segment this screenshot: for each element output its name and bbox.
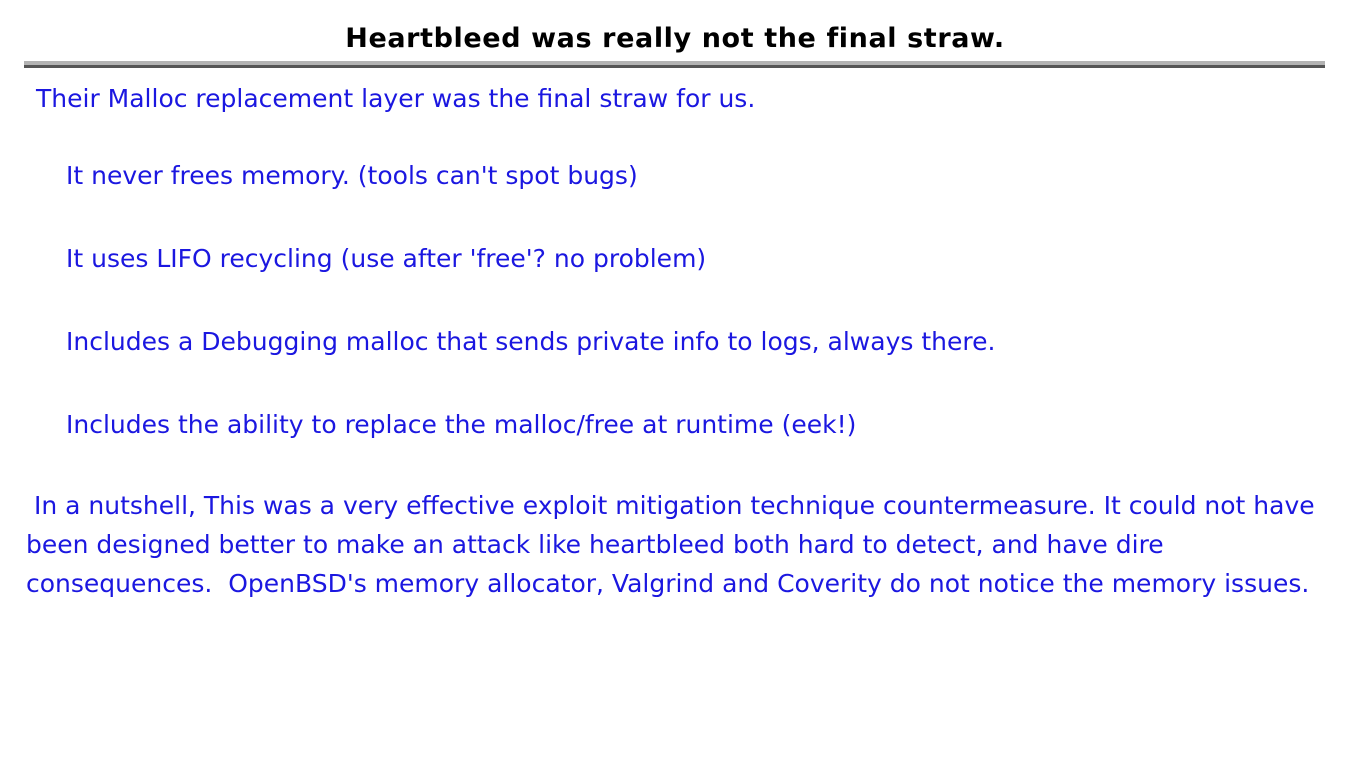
slide-title: Heartbleed was really not the final stra… [0,22,1350,56]
title-divider [24,61,1325,68]
presentation-slide: Heartbleed was really not the final stra… [0,0,1366,768]
bullet-item-3: Includes a Debugging malloc that sends p… [66,323,995,361]
lead-statement: Their Malloc replacement layer was the f… [36,80,755,118]
bullet-item-2: It uses LIFO recycling (use after 'free'… [66,240,706,278]
summary-paragraph: In a nutshell, This was a very effective… [26,486,1326,603]
bullet-item-4: Includes the ability to replace the mall… [66,406,856,444]
divider-shadow [24,65,1325,68]
bullet-item-1: It never frees memory. (tools can't spot… [66,157,638,195]
